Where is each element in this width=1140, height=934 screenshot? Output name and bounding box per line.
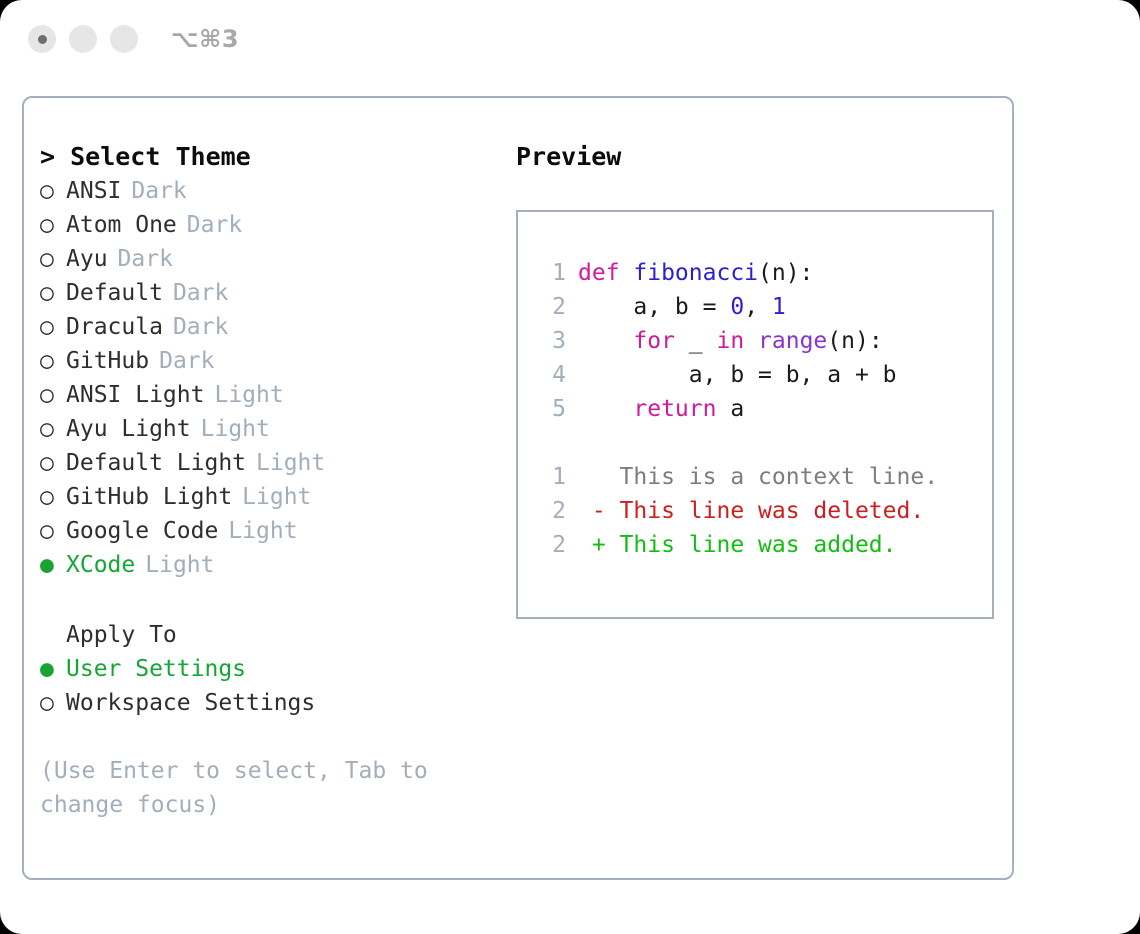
radio-unselected-icon: ○ [40, 208, 66, 242]
window-titlebar: ⌥⌘3 [0, 0, 1140, 78]
apply-to-option[interactable]: ○Workspace Settings [40, 686, 510, 720]
theme-list-item[interactable]: ○Default LightLight [40, 446, 510, 480]
radio-selected-icon: ● [40, 548, 66, 582]
code-line-number: 3 [532, 324, 566, 358]
code-token-pl: (n): [827, 328, 882, 354]
code-token-kw: def [578, 260, 633, 286]
theme-list-item[interactable]: ○AyuDark [40, 242, 510, 276]
theme-name-label: ANSI Light [66, 378, 204, 412]
code-token-pl [578, 396, 633, 422]
section-spacer [40, 582, 510, 618]
keyboard-shortcut-label: ⌥⌘3 [171, 25, 239, 53]
code-line: 5 return a [532, 392, 992, 426]
diff-line: 2 + This line was added. [532, 528, 992, 562]
code-line-text: return a [578, 392, 744, 426]
theme-list: ○ANSIDark○Atom OneDark○AyuDark○DefaultDa… [40, 174, 510, 582]
window-controls [28, 25, 138, 53]
theme-name-label: Google Code [66, 514, 218, 548]
code-token-kw: for [633, 328, 675, 354]
code-line-number: 5 [532, 392, 566, 426]
code-token-pl [578, 328, 633, 354]
code-line: 4 a, b = b, a + b [532, 358, 992, 392]
diff-marker-add: + [578, 528, 606, 562]
code-token-pl: _ [675, 328, 717, 354]
code-line-text: a, b = b, a + b [578, 358, 897, 392]
theme-name-label: Default [66, 276, 163, 310]
apply-to-list: ●User Settings○Workspace Settings [40, 652, 510, 720]
diff-line-text: This line was added. [606, 528, 897, 562]
code-token-kw: in [716, 328, 744, 354]
code-token-num: 1 [772, 294, 786, 320]
code-preview: 1def fibonacci(n):2 a, b = 0, 13 for _ i… [532, 256, 992, 426]
radio-unselected-icon: ○ [40, 310, 66, 344]
code-line-number: 4 [532, 358, 566, 392]
window-dot-3[interactable] [110, 25, 138, 53]
code-line-number: 2 [532, 290, 566, 324]
diff-preview: 1 This is a context line.2 - This line w… [532, 460, 992, 562]
radio-unselected-icon: ○ [40, 412, 66, 446]
apply-to-option-label: User Settings [66, 652, 246, 686]
theme-variant-label: Dark [173, 310, 228, 344]
code-line-text: a, b = 0, 1 [578, 290, 786, 324]
theme-list-item[interactable]: ○ANSI LightLight [40, 378, 510, 412]
theme-variant-label: Light [201, 412, 270, 446]
theme-name-label: ANSI [66, 174, 121, 208]
theme-variant-label: Light [242, 480, 311, 514]
code-token-pl: (n): [758, 260, 813, 286]
code-token-fn: fibonacci [633, 260, 758, 286]
diff-line-number: 1 [532, 460, 566, 494]
radio-unselected-icon: ○ [40, 446, 66, 480]
diff-line-text: This line was deleted. [606, 494, 925, 528]
theme-name-label: Ayu Light [66, 412, 191, 446]
radio-unselected-icon: ○ [40, 276, 66, 310]
theme-list-item[interactable]: ○Ayu LightLight [40, 412, 510, 446]
theme-list-item[interactable]: ○DraculaDark [40, 310, 510, 344]
theme-variant-label: Dark [187, 208, 242, 242]
apply-to-option-label: Workspace Settings [66, 686, 315, 720]
diff-line: 2 - This line was deleted. [532, 494, 992, 528]
theme-variant-label: Light [228, 514, 297, 548]
code-line-number: 1 [532, 256, 566, 290]
theme-list-item[interactable]: ●XCodeLight [40, 548, 510, 582]
diff-marker-del: - [578, 494, 606, 528]
apply-to-heading: Apply To [40, 618, 510, 652]
theme-list-item[interactable]: ○DefaultDark [40, 276, 510, 310]
window-dot-active[interactable] [28, 25, 56, 53]
theme-list-item[interactable]: ○GitHubDark [40, 344, 510, 378]
code-token-pl: a [716, 396, 744, 422]
radio-unselected-icon: ○ [40, 242, 66, 276]
code-token-pl: a, b = b, a + b [578, 362, 897, 388]
theme-variant-label: Light [145, 548, 214, 582]
diff-line-number: 2 [532, 528, 566, 562]
code-line: 3 for _ in range(n): [532, 324, 992, 358]
code-token-kw: return [633, 396, 716, 422]
theme-name-label: GitHub Light [66, 480, 232, 514]
theme-name-label: Dracula [66, 310, 163, 344]
theme-list-item[interactable]: ○ANSIDark [40, 174, 510, 208]
radio-unselected-icon: ○ [40, 480, 66, 514]
code-line-text: def fibonacci(n): [578, 256, 813, 290]
code-token-bi: range [758, 328, 827, 354]
theme-variant-label: Dark [173, 276, 228, 310]
window-dot-active-inner [38, 35, 47, 44]
theme-variant-label: Light [256, 446, 325, 480]
theme-name-label: Ayu [66, 242, 108, 276]
code-token-num: 0 [730, 294, 744, 320]
theme-name-label: Atom One [66, 208, 177, 242]
preview-column: Preview 1def fibonacci(n):2 a, b = 0, 13… [510, 140, 1012, 822]
radio-unselected-icon: ○ [40, 174, 66, 208]
select-theme-heading: > Select Theme [40, 140, 510, 174]
theme-selector-column: > Select Theme ○ANSIDark○Atom OneDark○Ay… [40, 140, 510, 822]
apply-to-option[interactable]: ●User Settings [40, 652, 510, 686]
app-window: ⌥⌘3 > Select Theme ○ANSIDark○Atom OneDar… [0, 0, 1140, 934]
main-panel: > Select Theme ○ANSIDark○Atom OneDark○Ay… [22, 96, 1014, 880]
theme-variant-label: Dark [131, 174, 186, 208]
theme-name-label: XCode [66, 548, 135, 582]
theme-list-item[interactable]: ○GitHub LightLight [40, 480, 510, 514]
radio-selected-icon: ● [40, 652, 66, 686]
preview-heading: Preview [516, 140, 1012, 174]
diff-line: 1 This is a context line. [532, 460, 992, 494]
radio-unselected-icon: ○ [40, 344, 66, 378]
theme-name-label: GitHub [66, 344, 149, 378]
code-token-pl [744, 328, 758, 354]
diff-line-text: This is a context line. [606, 460, 938, 494]
diff-line-number: 2 [532, 494, 566, 528]
theme-name-label: Default Light [66, 446, 246, 480]
keyboard-hint-text: (Use Enter to select, Tab to change focu… [40, 754, 460, 822]
radio-unselected-icon: ○ [40, 378, 66, 412]
code-line-text: for _ in range(n): [578, 324, 883, 358]
code-token-pl: a, b = [578, 294, 730, 320]
diff-marker-ctx [578, 460, 606, 494]
code-diff-spacer [532, 426, 992, 460]
theme-list-item[interactable]: ○Google CodeLight [40, 514, 510, 548]
theme-list-item[interactable]: ○Atom OneDark [40, 208, 510, 242]
theme-variant-label: Dark [118, 242, 173, 276]
window-dot-2[interactable] [69, 25, 97, 53]
code-line: 1def fibonacci(n): [532, 256, 992, 290]
code-line: 2 a, b = 0, 1 [532, 290, 992, 324]
preview-box: 1def fibonacci(n):2 a, b = 0, 13 for _ i… [516, 210, 994, 619]
theme-variant-label: Light [214, 378, 283, 412]
theme-variant-label: Dark [159, 344, 214, 378]
radio-unselected-icon: ○ [40, 514, 66, 548]
code-token-pl: , [744, 294, 772, 320]
radio-unselected-icon: ○ [40, 686, 66, 720]
